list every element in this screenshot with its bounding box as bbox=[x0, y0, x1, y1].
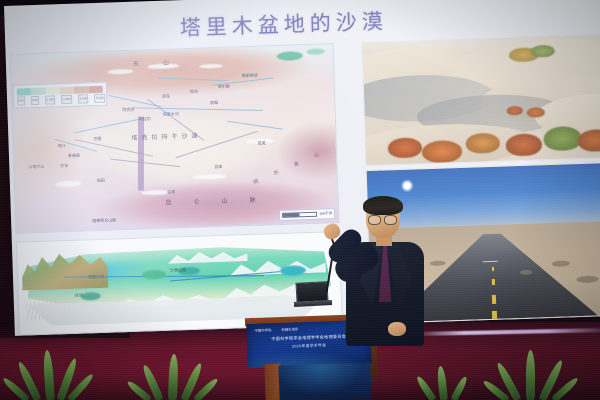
legend-ticks: 200 500 1 000 2 000 3 000 5 000 bbox=[16, 94, 106, 106]
poplar-tree bbox=[506, 133, 543, 156]
map-city-label: 民丰 bbox=[167, 189, 175, 195]
map-city-label: 库尔勒 bbox=[218, 84, 230, 90]
plant-leaf bbox=[526, 350, 535, 400]
road-center-dash bbox=[492, 267, 494, 271]
map-city-label: 喀什 bbox=[58, 143, 66, 149]
potted-plant bbox=[420, 360, 470, 400]
map-city-label: 巴楚 bbox=[93, 136, 101, 142]
road-center-dash bbox=[492, 295, 496, 304]
legend-tick: 200 bbox=[17, 96, 25, 105]
block-diagram-label: 塔里木河 bbox=[88, 274, 104, 281]
presenter-hair bbox=[363, 196, 403, 215]
plant-leaf bbox=[168, 354, 179, 400]
map-city-label: 尉犁 bbox=[210, 100, 218, 106]
slide-title: 塔里木盆地的沙漠 bbox=[179, 5, 388, 42]
potted-plant bbox=[20, 344, 80, 400]
plant-leaf bbox=[43, 350, 55, 400]
map-city-label: 阿克苏 bbox=[122, 107, 134, 113]
potted-plant bbox=[500, 344, 564, 400]
road-center-dash bbox=[492, 311, 497, 319]
podium-body bbox=[278, 362, 371, 400]
map-city-label: 轮台 bbox=[190, 89, 198, 95]
laptop-on-podium bbox=[296, 282, 330, 308]
block-diagram-label: 沙漠公路 bbox=[170, 267, 186, 274]
scale-ruler bbox=[282, 212, 317, 218]
presenter bbox=[330, 196, 442, 346]
poplar-tree bbox=[543, 126, 582, 151]
glasses-lens-left bbox=[368, 215, 381, 225]
legend-tick: 1 000 bbox=[45, 95, 56, 104]
map-city-label: 若羌 bbox=[258, 140, 266, 146]
map-city-label: 和田 bbox=[97, 178, 105, 184]
glasses-lens-right bbox=[384, 215, 397, 225]
plant-leaf bbox=[436, 366, 448, 400]
presenter-resting-hand bbox=[388, 322, 406, 336]
legend-tick: 2 000 bbox=[61, 95, 72, 104]
map-city-label: 库车 bbox=[162, 94, 170, 100]
road-center-dash bbox=[492, 279, 495, 285]
map-feature-label: 博斯腾湖 bbox=[241, 73, 257, 80]
map-city-label: 莎车 bbox=[60, 163, 68, 169]
legend-tick: 5 000 bbox=[94, 94, 105, 103]
conference-presentation-scene: 塔里木盆地的沙漠 bbox=[0, 0, 600, 400]
block-diagram-label: 绿洲 bbox=[75, 293, 83, 299]
sand-dunes-photo bbox=[361, 34, 600, 166]
map-scale-bar: 150千米 bbox=[279, 208, 335, 221]
map-range-label: 天 山 bbox=[133, 57, 178, 67]
elevation-legend: 200 500 1 000 2 000 3 000 5 000 bbox=[13, 82, 108, 109]
map-feature-label: 公格尔山 bbox=[28, 164, 44, 171]
plant-leaf bbox=[450, 375, 468, 400]
legend-tick: 500 bbox=[31, 96, 39, 105]
map-city-label: 阿拉尔 bbox=[139, 116, 151, 122]
map-city-label: 且末 bbox=[214, 164, 222, 170]
tarim-basin-map: 天 山 昆 仑 山 脉 阿 尔 金 山 塔克拉玛干沙漠 库车 轮台 库尔勒 阿克… bbox=[10, 43, 340, 234]
potted-plant bbox=[140, 348, 206, 400]
map-feature-label: 塔里木河 bbox=[163, 111, 179, 118]
legend-tick: 3 000 bbox=[78, 94, 89, 103]
logo-left-text: 中国科学院 bbox=[254, 327, 271, 333]
laptop-base bbox=[294, 300, 332, 307]
map-city-label: 麦盖提 bbox=[68, 153, 80, 159]
logo-right-text: 新疆生地所 bbox=[281, 326, 298, 332]
map-feature-label: 喀喇昆仑山脉 bbox=[92, 217, 116, 224]
